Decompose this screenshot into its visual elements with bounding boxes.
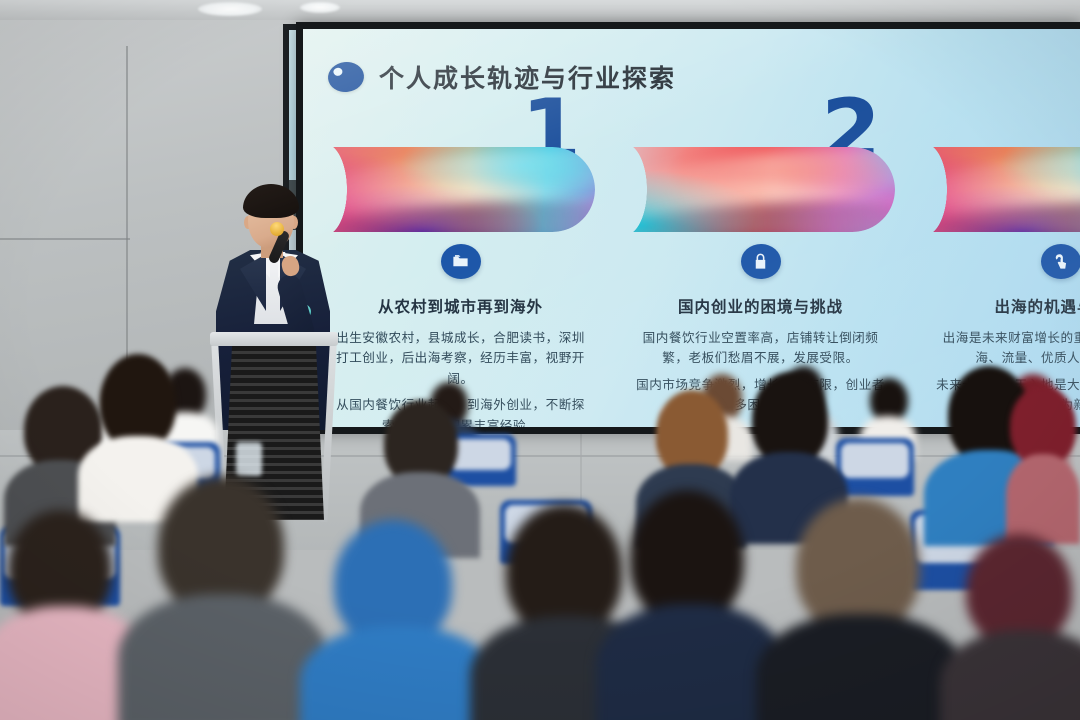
- torso: [756, 614, 966, 720]
- torso: [1006, 454, 1080, 544]
- audience-member: [940, 534, 1080, 720]
- hair: [243, 184, 299, 218]
- gradient-card-3: [925, 147, 1080, 232]
- audience-member: [118, 476, 328, 720]
- torso: [300, 626, 496, 720]
- card-slot-2: 2: [625, 147, 895, 232]
- column-heading-1: 从农村到城市再到海外: [333, 295, 588, 317]
- wall-seam: [0, 238, 130, 240]
- column-heading-3: 出海的机遇与趋势: [933, 295, 1080, 317]
- folder-icon: [441, 244, 481, 279]
- ceiling-light: [300, 2, 340, 13]
- card-slot-1: 1: [325, 147, 595, 232]
- audience-member: [1006, 386, 1080, 536]
- water-bottle: [236, 442, 262, 476]
- conference-scene: 个人成长轨迹与行业探索 1 2 3: [0, 0, 1080, 720]
- card-slot-3: 3: [925, 147, 1080, 232]
- lock-icon: [741, 244, 781, 279]
- torso: [118, 594, 328, 720]
- column-heading-2: 国内创业的困境与挑战: [633, 295, 888, 317]
- audience-member: [300, 520, 496, 720]
- ceiling-light: [198, 2, 262, 16]
- torso: [940, 630, 1080, 720]
- gradient-card-1: [325, 147, 595, 232]
- audience-member: [756, 498, 966, 720]
- touch-hand-icon: [1041, 244, 1080, 279]
- audience: [0, 330, 1080, 720]
- gradient-card-2: [625, 147, 895, 232]
